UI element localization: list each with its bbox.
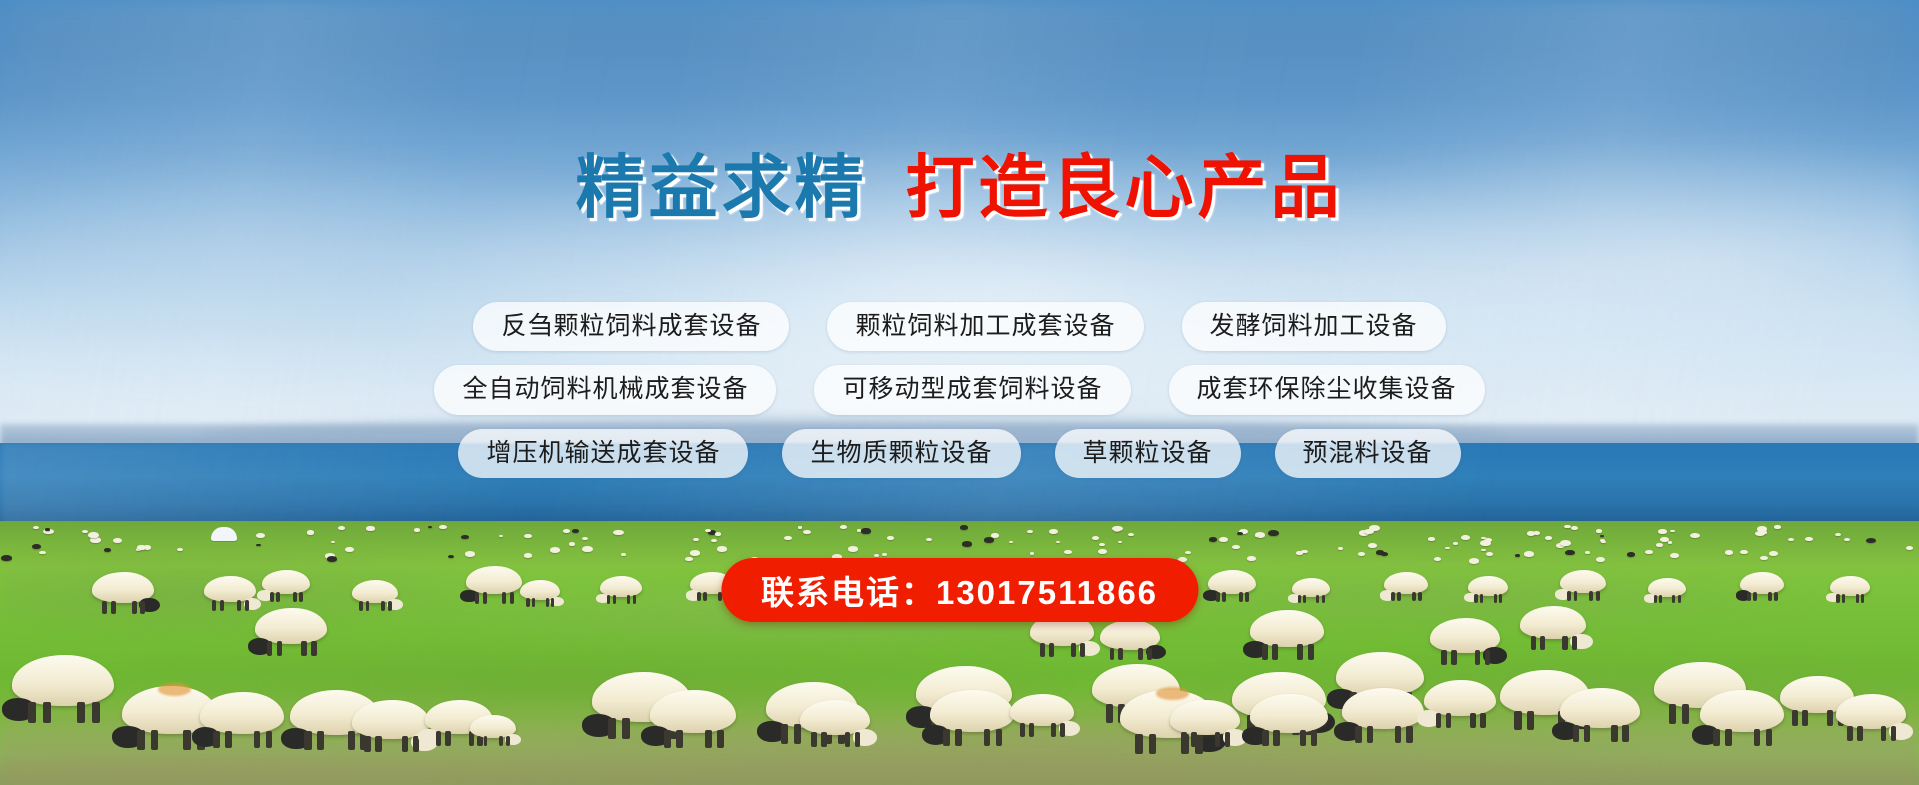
sheep-leg (1584, 725, 1590, 742)
sheep-leg (1298, 595, 1301, 603)
sheep-leg (1836, 594, 1839, 602)
sheep-leg (1527, 711, 1534, 730)
sheep-leg (1766, 729, 1773, 747)
sheep-leg (1611, 725, 1617, 742)
sheep-leg (137, 730, 145, 750)
distant-sheep (1690, 533, 1700, 538)
sheep-leg (1567, 591, 1571, 601)
sheep (1170, 700, 1240, 735)
sheep-leg (183, 730, 191, 750)
sheep-leg (855, 732, 861, 747)
sheep-body (12, 655, 114, 706)
sheep-leg (1881, 726, 1887, 741)
sheep-leg (1147, 648, 1152, 661)
sheep-leg (445, 731, 450, 745)
distant-sheep (1788, 538, 1794, 541)
distant-sheep (1565, 550, 1574, 555)
sheep-leg (1754, 729, 1761, 747)
sheep-leg (43, 702, 51, 723)
sheep-leg (1562, 636, 1567, 650)
sheep (262, 570, 310, 594)
sheep-leg (1262, 644, 1268, 660)
sheep-leg (1572, 636, 1577, 650)
distant-sheep (366, 526, 374, 531)
sheep-leg (546, 598, 549, 606)
product-tag[interactable]: 增压机输送成套设备 (458, 429, 748, 478)
sheep (1250, 610, 1324, 647)
distant-sheep (715, 532, 722, 536)
sheep-leg (388, 601, 392, 611)
sheep-leg (381, 601, 385, 611)
sheep-leg (1418, 592, 1422, 601)
product-tag[interactable]: 反刍颗粒饲料成套设备 (473, 302, 789, 351)
sheep-leg (1474, 594, 1477, 602)
sheep-leg (277, 641, 283, 656)
distant-sheep (1338, 547, 1343, 550)
sheep-leg (499, 736, 503, 746)
sheep-leg (1596, 591, 1600, 601)
sheep-leg (402, 736, 408, 752)
distant-sheep (1645, 550, 1653, 554)
distant-sheep (962, 541, 972, 547)
sheep-leg (1222, 592, 1226, 602)
sheep-leg (477, 736, 481, 746)
distant-sheep (1296, 551, 1302, 555)
sheep-leg (254, 731, 261, 749)
sheep-leg (1239, 592, 1243, 602)
sheep-leg (1262, 730, 1268, 746)
distant-sheep (1368, 543, 1377, 548)
distant-sheep (1428, 537, 1434, 540)
sheep-leg (1106, 704, 1113, 722)
distant-sheep (256, 544, 261, 547)
sheep-leg (1441, 650, 1447, 665)
sheep-leg (845, 732, 851, 747)
sheep-leg (483, 592, 487, 604)
product-tag-row-3: 增压机输送成套设备 生物质颗粒设备 草颗粒设备 预混料设备 (0, 429, 1919, 478)
sheep (1342, 688, 1424, 729)
distant-sheep (569, 542, 575, 546)
distant-sheep (1255, 534, 1260, 537)
sheep-leg (1245, 592, 1249, 602)
sheep (600, 576, 642, 597)
sheep-leg (28, 702, 36, 723)
sheep-leg (102, 601, 107, 614)
distant-sheep (1596, 529, 1602, 533)
sheep-leg (622, 718, 630, 739)
distant-sheep (1358, 552, 1366, 556)
sheep-leg (717, 730, 724, 748)
sheep-leg (1215, 732, 1221, 747)
sheep-leg (311, 641, 317, 656)
distant-sheep (582, 546, 593, 552)
sheep-leg (92, 702, 100, 723)
distant-sheep (1774, 525, 1780, 529)
sheep-leg (1412, 592, 1416, 601)
product-tag[interactable]: 预混料设备 (1275, 429, 1461, 478)
sheep-leg (1480, 594, 1483, 602)
sheep-leg (1273, 730, 1279, 746)
distant-sheep (711, 539, 717, 542)
sheep-leg (1395, 726, 1402, 743)
sheep (930, 690, 1014, 732)
sheep-leg (1847, 726, 1853, 741)
sheep-leg (1747, 592, 1751, 601)
sheep (1700, 690, 1784, 732)
sheep-leg (1216, 592, 1220, 602)
sheep-leg (1774, 592, 1778, 601)
sheep-leg (1451, 650, 1457, 665)
sheep-leg (996, 729, 1003, 747)
sheep-leg (1436, 713, 1442, 728)
sheep-leg (1191, 732, 1197, 747)
sheep-leg (510, 592, 514, 604)
distant-sheep (104, 548, 111, 552)
sheep-leg (1308, 644, 1314, 660)
distant-sheep (621, 553, 626, 556)
sheep-leg (821, 732, 827, 747)
sheep (1424, 680, 1496, 716)
distant-sheep (1027, 530, 1033, 533)
distant-sheep (1445, 547, 1450, 550)
sheep (92, 572, 154, 603)
sheep-leg (237, 600, 241, 611)
sheep-leg (212, 600, 216, 611)
sheep-leg (1842, 594, 1845, 602)
product-tag-list: 反刍颗粒饲料成套设备 颗粒饲料加工成套设备 发酵饲料加工设备 全自动饲料机械成套… (0, 302, 1919, 492)
sheep-leg (220, 600, 224, 611)
distant-sheep (1524, 551, 1534, 556)
product-tag[interactable]: 全自动饲料机械成套设备 (434, 365, 776, 414)
sheep-leg (364, 736, 370, 752)
sheep-leg (1391, 592, 1395, 601)
sheep-leg (1181, 732, 1187, 747)
distant-sheep (1760, 556, 1768, 560)
distant-sheep (1049, 529, 1058, 534)
product-tag[interactable]: 生物质颗粒设备 (782, 429, 1020, 478)
sheep-leg (276, 592, 280, 602)
sheep-leg (1406, 726, 1413, 743)
product-tag[interactable]: 颗粒饲料加工成套设备 (827, 302, 1143, 351)
sheep (352, 580, 398, 603)
distant-sheep (1600, 535, 1604, 537)
sheep-leg (375, 736, 381, 752)
distant-sheep (1805, 537, 1812, 541)
distant-sheep (984, 537, 995, 543)
sheep (1010, 694, 1074, 726)
distant-sheep (461, 535, 469, 539)
sheep-leg (1531, 636, 1536, 650)
distant-sheep (1064, 550, 1071, 554)
sheep-leg (1856, 594, 1859, 602)
sheep-leg (1029, 723, 1034, 736)
product-tag[interactable]: 草颗粒设备 (1055, 429, 1241, 478)
sheep-leg (506, 736, 510, 746)
sheep-leg (1682, 704, 1689, 723)
sheep (1648, 578, 1686, 597)
sheep-leg (1049, 643, 1054, 656)
distant-sheep (1627, 552, 1635, 557)
distant-sheep (88, 532, 99, 538)
sheep-leg (1494, 594, 1497, 602)
sheep-leg (1589, 591, 1593, 601)
product-tag[interactable]: 可移动型成套饲料设备 (814, 365, 1130, 414)
sheep-leg (1397, 592, 1401, 601)
distant-sheep (784, 536, 792, 540)
sheep-leg (301, 641, 307, 656)
distant-sheep (1480, 540, 1491, 546)
sheep (1292, 578, 1330, 597)
sheep-leg (475, 592, 479, 604)
sheep-leg (1540, 636, 1545, 650)
sheep-leg (1060, 723, 1065, 736)
sheep-leg (811, 732, 817, 747)
distant-sheep (1866, 538, 1876, 543)
sheep-leg (1678, 595, 1681, 603)
sheep (1560, 570, 1606, 593)
page-title: 精益求精打造良心产品 (0, 153, 1919, 222)
sheep-leg (1475, 650, 1481, 665)
sheep (1384, 572, 1428, 594)
sheep-leg (77, 702, 85, 723)
promo-banner: 精益求精打造良心产品 反刍颗粒饲料成套设备 颗粒饲料加工成套设备 发酵饲料加工设… (0, 0, 1919, 785)
sheep-leg (267, 641, 273, 656)
distant-sheep (414, 528, 420, 531)
sheep-leg (1792, 710, 1798, 726)
sheep (1836, 694, 1906, 729)
sheep (1830, 576, 1870, 596)
sheep (204, 576, 256, 602)
product-tag-row-2: 全自动饲料机械成套设备 可移动型成套饲料设备 成套环保除尘收集设备 (0, 365, 1919, 414)
sheep-leg (1051, 723, 1056, 736)
sheep (1740, 572, 1784, 594)
sheep-leg (1367, 726, 1374, 743)
sheep-leg (1020, 723, 1025, 736)
distant-sheep (1571, 526, 1579, 530)
distant-sheep (1545, 536, 1552, 540)
sheep-leg (299, 592, 303, 602)
sheep-leg (1573, 725, 1579, 742)
sheep-leg (484, 736, 488, 746)
distant-sheep (1, 555, 11, 561)
distant-sheep (882, 553, 887, 556)
distant-sheep (1769, 551, 1778, 556)
sheep (1430, 618, 1500, 653)
sheep-leg (1322, 595, 1325, 603)
distant-sheep (327, 556, 337, 562)
distant-sheep (1668, 541, 1672, 543)
sheep-leg (1622, 725, 1628, 742)
sheep (800, 700, 870, 735)
distant-sheep (1906, 546, 1913, 550)
sheep-leg (1857, 726, 1863, 741)
distant-sheep (1185, 551, 1191, 554)
distant-sheep (1469, 558, 1480, 564)
sheep-leg (781, 724, 788, 743)
sheep-leg (1446, 713, 1452, 728)
yurt-tent (211, 527, 237, 541)
sheep (520, 580, 560, 600)
sheep-leg (608, 718, 616, 739)
sheep-leg (1110, 648, 1115, 661)
distant-sheep (1486, 552, 1493, 556)
sheep (1250, 694, 1328, 733)
distant-sheep (524, 553, 532, 557)
sheep-leg (955, 729, 962, 747)
sheep-marking (1156, 687, 1189, 699)
distant-sheep (861, 528, 870, 533)
sheep-leg (526, 598, 529, 606)
sheep-leg (1891, 726, 1897, 741)
sheep-leg (1040, 643, 1045, 656)
distant-sheep (848, 546, 858, 552)
sheep-leg (1514, 711, 1521, 730)
distant-sheep (1461, 535, 1471, 540)
sheep-leg (1753, 592, 1757, 601)
sheep (1208, 570, 1256, 594)
sheep-leg (1669, 704, 1676, 723)
sheep-leg (140, 601, 145, 614)
headline-part-primary: 精益求精 (576, 153, 868, 222)
sheep-leg (266, 731, 273, 749)
distant-sheep (465, 551, 476, 557)
sheep-leg (436, 731, 441, 745)
distant-sheep (1560, 540, 1571, 546)
distant-sheep (690, 550, 700, 555)
distant-sheep (90, 537, 101, 543)
sheep (255, 608, 327, 644)
sheep-leg (1802, 710, 1808, 726)
sheep-leg (317, 731, 324, 750)
sheep-leg (1470, 713, 1476, 728)
sheep-leg (1071, 643, 1076, 656)
sheep-leg (984, 729, 991, 747)
sheep-leg (293, 592, 297, 602)
distant-sheep (499, 535, 503, 537)
sheep-leg (664, 730, 671, 748)
sheep-leg (1118, 648, 1123, 661)
sheep-leg (366, 601, 370, 611)
sheep-leg (1355, 726, 1362, 743)
distant-sheep (1092, 536, 1099, 540)
distant-sheep (1725, 550, 1733, 555)
sheep-leg (705, 730, 712, 748)
sheep-leg (1713, 729, 1720, 747)
sheep-leg (213, 731, 220, 749)
sheep (1560, 688, 1640, 728)
sheep-leg (697, 592, 701, 601)
sheep (466, 566, 522, 594)
sheep-leg (1225, 732, 1231, 747)
sheep-leg (703, 592, 707, 601)
sheep (1520, 606, 1586, 639)
sheep-leg (132, 601, 137, 614)
distant-sheep (1209, 537, 1217, 542)
distant-sheep (887, 536, 894, 540)
sheep-leg (502, 592, 506, 604)
sheep-leg (607, 595, 610, 604)
sheep-leg (151, 730, 159, 750)
distant-sheep (550, 547, 560, 553)
distant-sheep (613, 530, 623, 536)
sheep-leg (551, 598, 554, 606)
sheep (470, 715, 516, 738)
sheep-marking (158, 683, 191, 695)
sheep-leg (1768, 592, 1772, 601)
sheep-leg (1135, 734, 1143, 754)
distant-sheep (1656, 543, 1663, 547)
distant-sheep (345, 547, 354, 552)
sheep-leg (111, 601, 116, 614)
sheep-leg (1080, 643, 1085, 656)
sheep-leg (627, 595, 630, 604)
sheep (200, 692, 284, 734)
distant-sheep (1658, 529, 1667, 534)
sheep (1100, 620, 1160, 650)
sheep (1468, 576, 1508, 596)
sheep-leg (1480, 713, 1486, 728)
sheep-leg (1499, 594, 1502, 602)
sheep-leg (270, 592, 274, 602)
distant-sheep (798, 526, 803, 529)
distant-sheep (1585, 551, 1590, 554)
product-tag[interactable]: 发酵饲料加工设备 (1182, 302, 1446, 351)
sheep-leg (1861, 594, 1864, 602)
sheep-leg (1297, 644, 1303, 660)
distant-sheep (45, 528, 50, 531)
sheep-leg (1272, 644, 1278, 660)
distant-sheep (1232, 545, 1239, 549)
sheep-leg (532, 598, 535, 606)
sheep-leg (633, 595, 636, 604)
distant-sheep (840, 525, 848, 529)
sheep (650, 690, 736, 733)
sheep (12, 655, 114, 706)
distant-sheep (1009, 541, 1013, 543)
sheep-leg (245, 600, 249, 611)
sheep-leg (943, 729, 950, 747)
sheep-body (1560, 688, 1640, 728)
sheep-leg (1485, 650, 1491, 665)
sheep-leg (676, 730, 683, 748)
distant-sheep (82, 530, 88, 533)
sheep-leg (1149, 734, 1157, 754)
sheep-leg (304, 731, 311, 750)
sheep-leg (1725, 729, 1732, 747)
sheep-leg (1311, 730, 1317, 746)
distant-sheep (685, 557, 692, 561)
sheep-leg (1138, 648, 1143, 661)
sheep-leg (225, 731, 232, 749)
product-tag-row-1: 反刍颗粒饲料成套设备 颗粒饲料加工成套设备 发酵饲料加工设备 (0, 302, 1919, 351)
distant-sheep (1376, 550, 1384, 555)
sheep-leg (1827, 710, 1833, 726)
distant-sheep (137, 545, 145, 550)
sheep-leg (1300, 730, 1306, 746)
sheep-leg (1574, 591, 1578, 601)
contact-phone-bar[interactable]: 联系电话：13017511866 (721, 558, 1198, 622)
distant-sheep (717, 546, 728, 552)
sheep-leg (1654, 595, 1657, 603)
sheep-leg (359, 601, 363, 611)
distant-sheep (307, 530, 315, 534)
product-tag[interactable]: 成套环保除尘收集设备 (1169, 365, 1485, 414)
distant-sheep (1030, 552, 1035, 555)
headline-part-accent: 打造良心产品 (906, 153, 1344, 222)
sheep-leg (613, 595, 616, 604)
